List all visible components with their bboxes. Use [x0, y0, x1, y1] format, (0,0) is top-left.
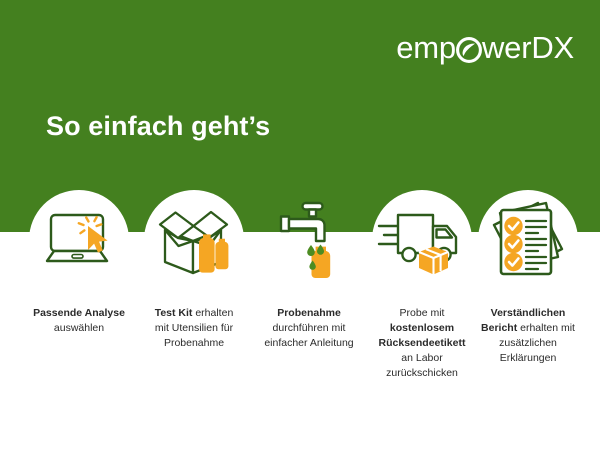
- caption-line: erhalten mit: [517, 322, 575, 334]
- caption-line: erhalten: [192, 307, 233, 319]
- caption-line-bold: Verständlichen: [491, 307, 566, 319]
- step-icon-circle: [29, 190, 129, 290]
- caption-line-bold: Bericht: [481, 322, 517, 334]
- laptop-click-icon: [29, 190, 129, 290]
- step-item-4: Probe mit kostenlosem Rücksendeetikett a…: [364, 190, 480, 381]
- step-icon-circle: [144, 190, 244, 290]
- caption-line: einfacher Anleitung: [264, 337, 353, 349]
- step-caption-1: Passende Analyse auswählen: [21, 306, 137, 336]
- caption-line: zusätzlichen: [499, 337, 557, 349]
- caption-line-bold: Rücksendeetikett: [379, 337, 466, 349]
- steps-row: Passende Analyse auswählen: [0, 0, 600, 456]
- caption-line-bold: Test Kit: [155, 307, 193, 319]
- faucet-sample-icon: [259, 190, 359, 290]
- step-icon-circle: [478, 190, 578, 290]
- open-box-bottles-icon: [144, 190, 244, 290]
- step-item-5: Verständlichen Bericht erhalten mit zusä…: [470, 190, 586, 366]
- step-caption-3: Probenahme durchführen mit einfacher Anl…: [251, 306, 367, 351]
- step-caption-4: Probe mit kostenlosem Rücksendeetikett a…: [364, 306, 480, 381]
- step-item-3: Probenahme durchführen mit einfacher Anl…: [251, 190, 367, 351]
- caption-line: mit Utensilien für: [155, 322, 233, 334]
- caption-line: zurückschicken: [386, 367, 458, 379]
- step-icon-circle: [372, 190, 472, 290]
- caption-line-bold: Probenahme: [277, 307, 341, 319]
- caption-line-bold: kostenlosem: [390, 322, 454, 334]
- caption-line: auswählen: [54, 322, 104, 334]
- caption-line: Probenahme: [164, 337, 224, 349]
- caption-line: Probe mit: [400, 307, 445, 319]
- step-caption-5: Verständlichen Bericht erhalten mit zusä…: [470, 306, 586, 366]
- caption-line: durchführen mit: [273, 322, 346, 334]
- step-icon-circle: [259, 190, 359, 290]
- step-item-2: Test Kit erhalten mit Utensilien für Pro…: [136, 190, 252, 351]
- delivery-truck-parcel-icon: [372, 190, 472, 290]
- caption-line: Erklärungen: [500, 352, 557, 364]
- report-checklist-icon: [478, 190, 578, 290]
- caption-line-bold: Passende Analyse: [33, 307, 125, 319]
- caption-line: an Labor: [401, 352, 442, 364]
- step-item-1: Passende Analyse auswählen: [21, 190, 137, 336]
- infographic-slide: emp werDX So einfach geht’s: [0, 0, 600, 456]
- step-caption-2: Test Kit erhalten mit Utensilien für Pro…: [136, 306, 252, 351]
